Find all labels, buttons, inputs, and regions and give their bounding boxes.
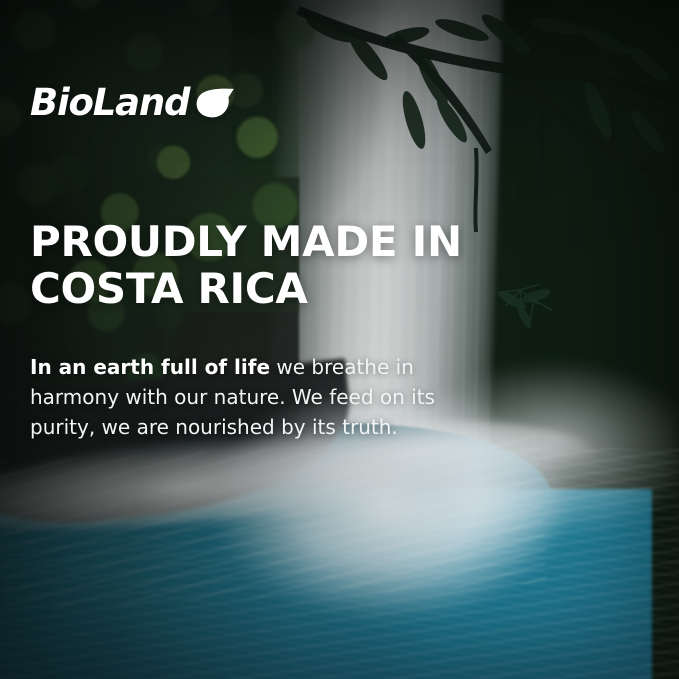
bioland-logo: BioLand xyxy=(30,84,235,121)
bioland-costa-rica-banner: BioLand PROUDLY MADE IN COSTA RICA In an… xyxy=(0,0,679,679)
page-title: PROUDLY MADE IN COSTA RICA xyxy=(30,218,462,312)
headline-line-1: PROUDLY MADE IN xyxy=(30,217,462,266)
body-paragraph: In an earth full of life we breathe in h… xyxy=(30,352,490,442)
body-lead-phrase: In an earth full of life xyxy=(30,355,270,379)
leaf-icon xyxy=(193,87,235,121)
banner-content: BioLand PROUDLY MADE IN COSTA RICA In an… xyxy=(0,0,679,679)
logo-wordmark: BioLand xyxy=(30,84,189,121)
headline-line-2: COSTA RICA xyxy=(30,265,462,312)
